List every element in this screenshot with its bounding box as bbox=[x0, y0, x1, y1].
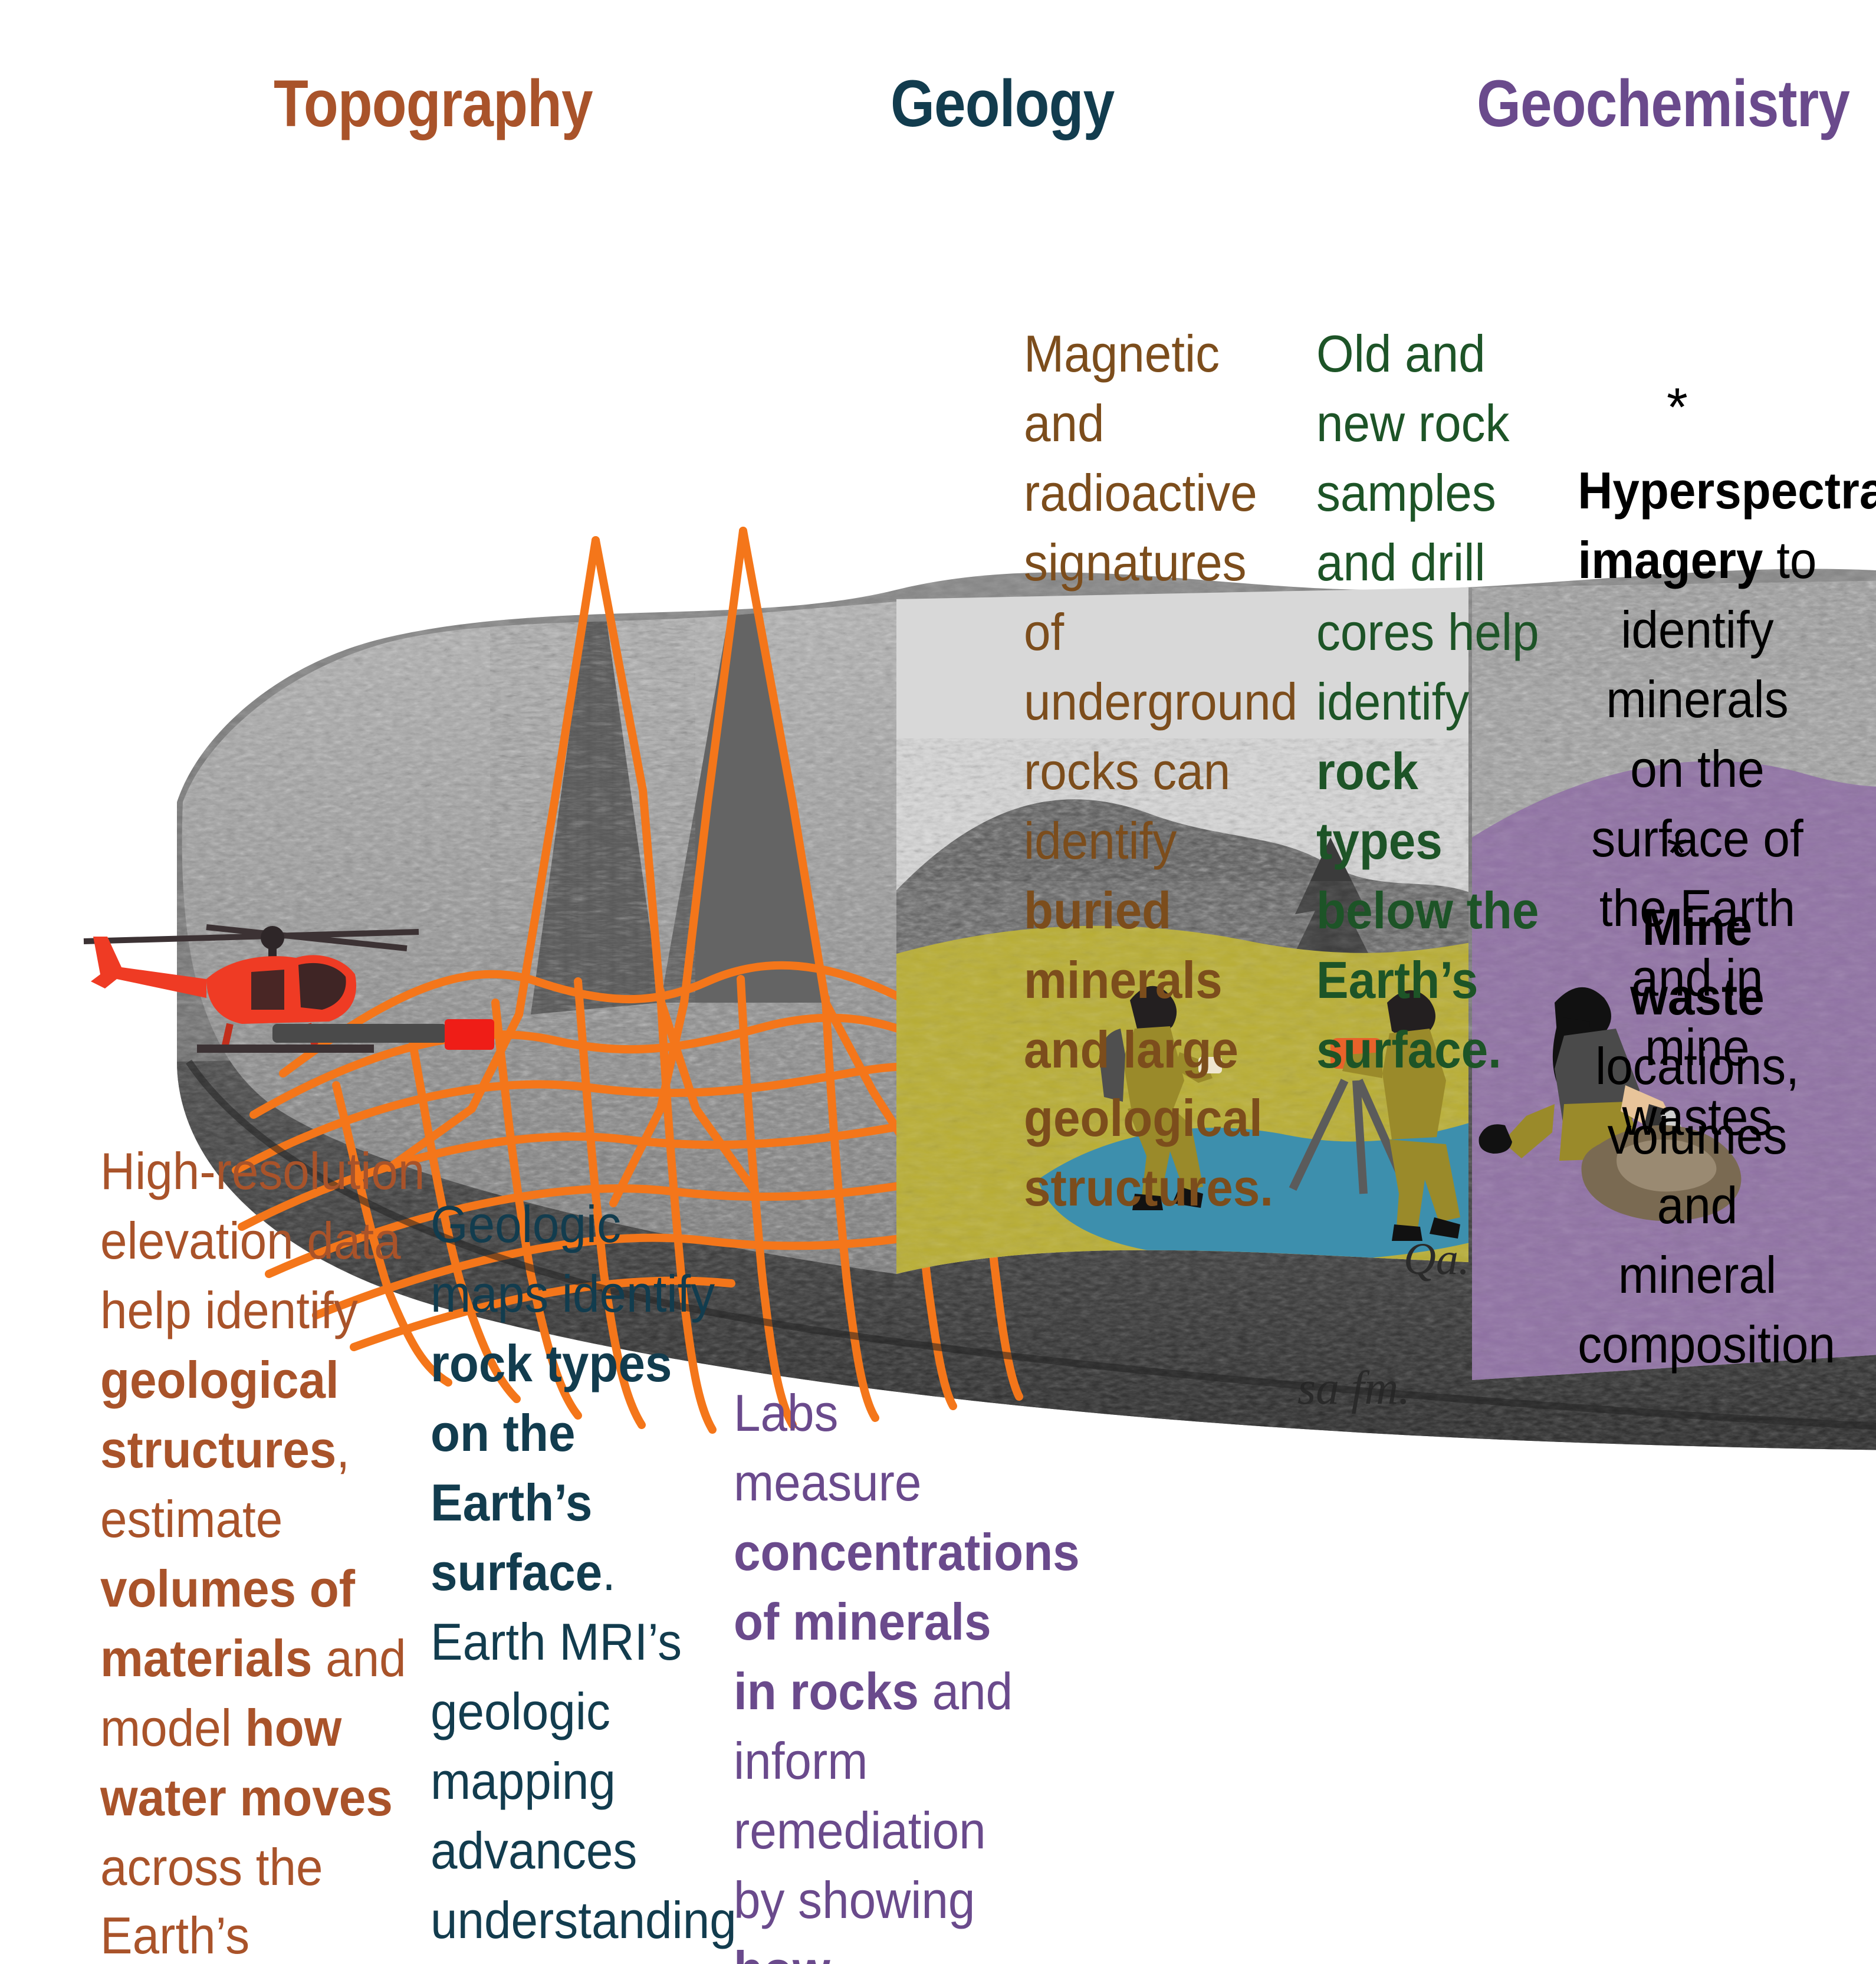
infographic-canvas: Topography Geology Geochemistry Geophysi… bbox=[0, 0, 1875, 981]
heading-geology: Geology bbox=[891, 66, 1114, 142]
heading-topography: Topography bbox=[274, 66, 593, 142]
body-mine-waste: Mine waste locations, volumes and minera… bbox=[1578, 894, 1816, 1381]
map-label-qa: Qa. bbox=[1404, 1234, 1470, 1284]
helicopter-door-window bbox=[251, 970, 284, 1010]
helicopter-tailboom bbox=[91, 937, 206, 998]
heading-geochemistry: Geochemistry bbox=[1477, 66, 1849, 142]
helicopter-body bbox=[84, 926, 494, 1050]
bullet-marker-hyperspectral: * bbox=[1667, 380, 1688, 434]
sensor-boom bbox=[272, 1024, 447, 1043]
body-geophysics: Magnetic and radioactive signatures of u… bbox=[1024, 321, 1298, 1225]
bullet-marker-mine-waste: * bbox=[1667, 826, 1688, 880]
body-geochemistry: Labs measure concentrations of minerals … bbox=[734, 1380, 1021, 1964]
body-topography: High-resolution elevation data help iden… bbox=[100, 1138, 429, 1964]
body-borehole: Old and new rock samples and drill cores… bbox=[1316, 321, 1549, 1086]
helicopter bbox=[65, 906, 678, 1083]
helicopter-main-rotor bbox=[84, 927, 419, 948]
sensor-pod bbox=[445, 1019, 494, 1050]
body-geology: Geologic maps identify rock types on the… bbox=[431, 1191, 738, 1964]
